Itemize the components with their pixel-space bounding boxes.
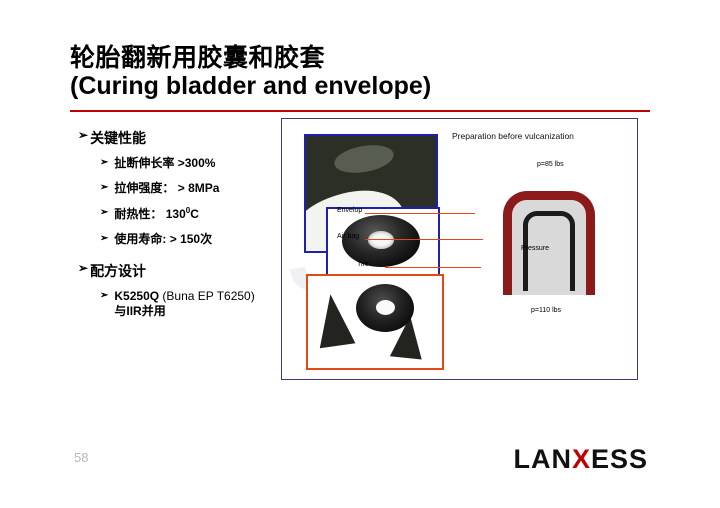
bullet-heading-formulation: ➢ 配方设计 — [78, 261, 288, 281]
bladder-highlight — [332, 141, 396, 177]
envelope-ring-hole — [368, 231, 394, 249]
title-divider — [70, 110, 650, 112]
product-code: K5250Q — [114, 289, 159, 303]
bullet-item-elongation-label: 扯断伸长率 >300% — [114, 156, 288, 171]
title-block: 轮胎翻新用胶囊和胶套 (Curing bladder and envelope) — [70, 44, 650, 100]
bullet-arrow-icon: ➢ — [100, 289, 108, 303]
bullet-heading-performance-label: 关键性能 — [90, 128, 146, 148]
bullet-item-service-life-label: 使用寿命: > 150次 — [114, 232, 288, 247]
bullet-arrow-icon: ➢ — [100, 181, 108, 195]
label-pressure-bottom: p=110 lbs — [531, 307, 561, 314]
photo-box-products — [306, 274, 444, 370]
heat-resistance-text: 耐热性： 130 — [114, 207, 185, 221]
bullet-item-tensile-label: 拉伸强度： > 8MPa — [114, 181, 288, 196]
celsius-unit: C — [190, 207, 199, 221]
bullet-item-product: ➢ K5250Q (Buna EP T6250)与IIR并用 — [100, 289, 288, 319]
bullet-arrow-icon: ➢ — [100, 232, 108, 246]
lanxess-logo: LANXESS — [513, 444, 648, 475]
page-title-cn: 轮胎翻新用胶囊和胶套 — [70, 44, 650, 72]
tire-bead-right — [586, 267, 595, 295]
bullet-heading-performance: ➢ 关键性能 — [78, 128, 288, 148]
tire-cross-section — [503, 191, 595, 277]
bullet-item-heat-resistance-label: 耐热性： 1300C — [114, 206, 288, 222]
product-grade: (Buna EP T6250) — [159, 289, 255, 303]
label-pressure-top: p=85 lbs — [537, 161, 564, 168]
bullet-heading-formulation-label: 配方设计 — [90, 261, 146, 281]
logo-right: ESS — [591, 444, 648, 474]
logo-left: LAN — [513, 444, 572, 474]
label-envelope: Envelop — [337, 207, 362, 214]
label-airbag: Air bag — [337, 233, 359, 240]
figure-title: Preparation before vulcanization — [452, 131, 574, 141]
bullet-item-tensile: ➢ 拉伸强度： > 8MPa — [100, 181, 288, 196]
bullet-arrow-icon: ➢ — [100, 156, 108, 170]
product-tire-hole — [376, 300, 395, 315]
tire-bead-left — [503, 267, 512, 295]
leader-line-envelope — [365, 213, 475, 214]
leader-line-tire — [385, 267, 481, 268]
product-blend-note: 与IIR并用 — [114, 304, 165, 318]
vulcanization-diagram: p=85 lbs Pressure p=110 lbs Envelop Air … — [469, 147, 629, 357]
product-cone-left — [313, 292, 356, 349]
bullet-item-heat-resistance: ➢ 耐热性： 1300C — [100, 206, 288, 222]
bullet-item-elongation: ➢ 扯断伸长率 >300% — [100, 156, 288, 171]
bullet-list: ➢ 关键性能 ➢ 扯断伸长率 >300% ➢ 拉伸强度： > 8MPa ➢ 耐热… — [78, 128, 288, 329]
bullet-item-product-label: K5250Q (Buna EP T6250)与IIR并用 — [114, 289, 288, 319]
figure-panel: JV Preparation before vulcanization — [281, 118, 638, 380]
label-pressure-center: Pressure — [521, 245, 549, 252]
leader-line-airbag — [365, 239, 483, 240]
photo-box-envelope — [326, 207, 440, 279]
label-tire: Tire — [357, 261, 369, 268]
logo-accent: X — [572, 444, 591, 474]
page-number: 58 — [74, 450, 88, 465]
bullet-arrow-icon: ➢ — [78, 128, 88, 144]
products-photo — [308, 276, 442, 368]
bullet-item-service-life: ➢ 使用寿命: > 150次 — [100, 232, 288, 247]
bullet-arrow-icon: ➢ — [100, 206, 108, 220]
page-title-en: (Curing bladder and envelope) — [70, 72, 650, 100]
slide: 轮胎翻新用胶囊和胶套 (Curing bladder and envelope)… — [0, 0, 720, 508]
bullet-arrow-icon: ➢ — [78, 261, 88, 277]
